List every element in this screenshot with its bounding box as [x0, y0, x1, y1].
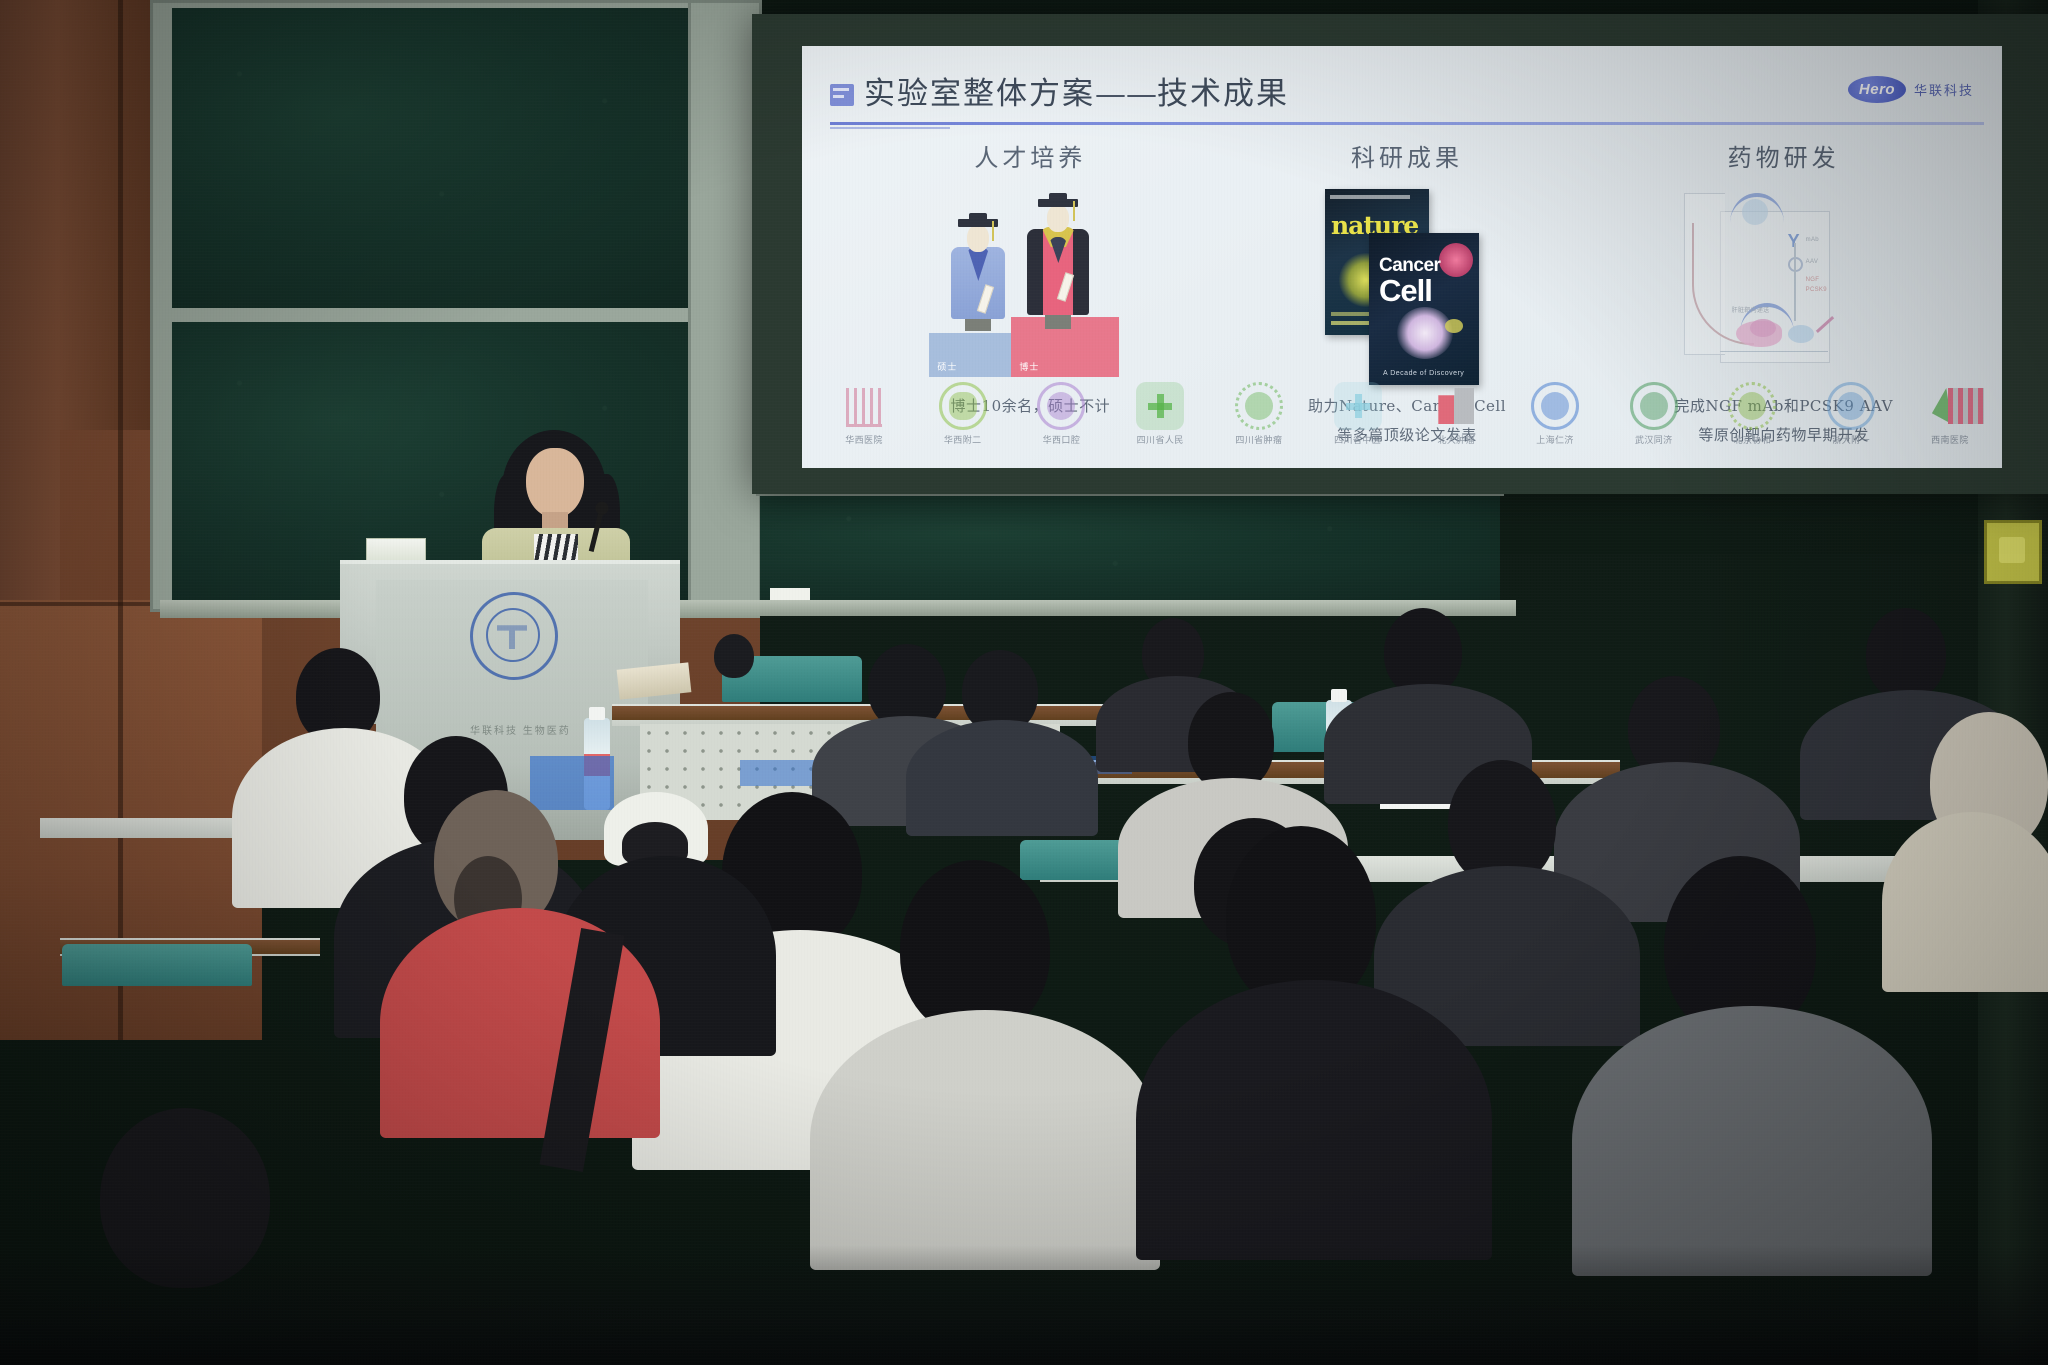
journal-cc-tagline: A Decade of Discovery — [1383, 370, 1464, 377]
partner-logo-label: 武汉同济 — [1618, 433, 1690, 446]
journal-cc-line2: Cell — [1379, 273, 1432, 309]
partner-logo-mark-icon — [1432, 382, 1480, 430]
partner-logo-label: 华西医院 — [828, 433, 900, 446]
yellow-notice-sign-icon — [1984, 520, 2042, 584]
eraser — [770, 588, 810, 600]
partner-logo-mark-icon — [1630, 382, 1678, 430]
slide-bullet-icon — [830, 84, 854, 106]
column-talent: 人才培养 硕士 博士 — [842, 138, 1219, 388]
partner-logo: 四川省中医 — [1322, 382, 1394, 458]
partner-logo-mark-icon — [939, 382, 987, 430]
diagram-label-aav: AAV — [1806, 259, 1818, 265]
partner-logo-label: 华西附二 — [927, 433, 999, 446]
partner-logo-mark-icon — [1926, 382, 1974, 430]
partner-logo: 四川省人民 — [1124, 382, 1196, 458]
panel-seam — [118, 0, 123, 1040]
partner-logo: 北京协和 — [1716, 382, 1788, 458]
journal-cover-cancer-cell: Cancer Cell A Decade of Discovery — [1369, 233, 1479, 385]
presenter-speaker — [476, 430, 636, 580]
column-heading: 药物研发 — [1595, 138, 1972, 173]
chair-back — [62, 944, 252, 986]
slide-title-main: 实验室整体方案 — [864, 76, 1095, 112]
audience-head — [1384, 608, 1462, 696]
partner-logo-label: 北京协和 — [1716, 433, 1788, 446]
presentation-slide: 实验室整体方案——技术成果 Hero 华联科技 人才培养 硕士 — [802, 46, 2002, 468]
graduate-doctor-figure — [1019, 193, 1099, 331]
drug-pathway-diagram: Y mAb AAV NGF PCSK9 肝脏靶向递送 — [1684, 187, 1884, 377]
pedestal-doctor-label: 博士 — [1019, 360, 1039, 373]
diagram-label-delivery: 肝脏靶向递送 — [1732, 305, 1770, 314]
audience-head — [714, 634, 754, 678]
column-artwork: Y mAb AAV NGF PCSK9 肝脏靶向递送 — [1595, 187, 1972, 377]
brand-oval-icon: Hero — [1848, 76, 1906, 103]
chalkboard-panel-upper — [172, 8, 734, 308]
title-underline — [830, 122, 1984, 125]
brand-chinese-name: 华联科技 — [1914, 80, 1974, 99]
graduates-illustration: 硕士 博士 — [925, 187, 1135, 377]
column-heading: 人才培养 — [842, 138, 1219, 173]
university-crest-icon — [470, 592, 558, 680]
column-artwork: 硕士 博士 — [842, 187, 1219, 377]
column-artwork: nature Cancer Cell A Decade of Discovery — [1219, 187, 1596, 377]
diagram-label-mab: mAb — [1806, 237, 1819, 243]
column-research: 科研成果 nature — [1219, 138, 1596, 388]
presenter-face — [526, 448, 584, 518]
audience-head — [1866, 608, 1946, 700]
diagram-label-pcsk9: PCSK9 — [1806, 287, 1827, 293]
diagram-label-ngf: NGF — [1806, 277, 1820, 283]
chalkboard-panel-lower — [172, 322, 734, 600]
audience-shoulders — [1136, 980, 1492, 1260]
lecture-hall-photo: 实验室整体方案——技术成果 Hero 华联科技 人才培养 硕士 — [0, 0, 2048, 1365]
brand-logo: Hero 华联科技 — [1848, 76, 1974, 103]
desk-row-3-edge — [612, 706, 1112, 720]
chalkboard-frame-divider — [688, 0, 762, 612]
audience-shoulders — [1882, 812, 2048, 992]
graduate-master-figure — [943, 213, 1015, 331]
slide-title: 实验室整体方案——技术成果 — [864, 68, 1289, 113]
partner-logo-label: 四川省中医 — [1322, 433, 1394, 446]
partner-logo: 北大肿瘤 — [1420, 382, 1492, 458]
partner-logo-mark-icon — [1334, 382, 1382, 430]
audience-shoulders — [906, 720, 1098, 836]
partner-logo: 华西口腔 — [1025, 382, 1097, 458]
partner-logo: 上海仁济 — [1519, 382, 1591, 458]
partner-logo: 华西附二 — [927, 382, 999, 458]
audience-shoulders — [810, 1010, 1160, 1270]
lectern-strip-text: 华联科技 生物医药 — [470, 722, 590, 737]
partner-logo-mark-icon — [1728, 382, 1776, 430]
partner-logo-label: 北大肿瘤 — [1420, 433, 1492, 446]
partner-logo: 浙大附一 — [1815, 382, 1887, 458]
partner-logo-mark-icon — [1037, 382, 1085, 430]
pedestal-master-label: 硕士 — [937, 360, 957, 373]
partner-logo-mark-icon — [840, 382, 888, 430]
slide-title-dash: —— — [1095, 76, 1157, 112]
projection-screen: 实验室整体方案——技术成果 Hero 华联科技 人才培养 硕士 — [752, 14, 2048, 494]
slide-title-sub: 技术成果 — [1157, 76, 1289, 112]
audience-shoulders — [1572, 1006, 1932, 1276]
partner-logo-label: 华西口腔 — [1025, 433, 1097, 446]
audience-head — [1188, 692, 1274, 792]
chalkboard-panel-right — [760, 494, 1500, 606]
partner-logo-label: 浙大附一 — [1815, 433, 1887, 446]
partner-logo-mark-icon — [1827, 382, 1875, 430]
partner-logo-label: 四川省肿瘤 — [1223, 433, 1295, 446]
column-heading: 科研成果 — [1219, 138, 1596, 173]
partner-logo-label: 西南医院 — [1914, 433, 1986, 446]
partner-logo-mark-icon — [1531, 382, 1579, 430]
column-drug-development: 药物研发 Y mAb AAV NGF — [1595, 138, 1972, 388]
partner-logo-mark-icon — [1235, 382, 1283, 430]
partner-logo-strip: 华西医院华西附二华西口腔四川省人民四川省肿瘤四川省中医北大肿瘤上海仁济武汉同济北… — [828, 382, 1986, 458]
partner-logo: 华西医院 — [828, 382, 900, 458]
foreground-shadow — [0, 1245, 2048, 1365]
journal-covers-illustration: nature Cancer Cell A Decade of Discovery — [1317, 187, 1497, 377]
slide-columns: 人才培养 硕士 博士 — [842, 138, 1972, 388]
partner-logo-label: 上海仁济 — [1519, 433, 1591, 446]
partner-logo: 武汉同济 — [1618, 382, 1690, 458]
partner-logo: 四川省肿瘤 — [1223, 382, 1295, 458]
audience-white-cap — [604, 792, 708, 866]
blue-folder — [530, 756, 614, 810]
partner-logo: 西南医院 — [1914, 382, 1986, 458]
partner-logo-label: 四川省人民 — [1124, 433, 1196, 446]
slide-header: 实验室整体方案——技术成果 Hero 华联科技 — [830, 64, 1984, 118]
title-underline-accent — [830, 127, 950, 129]
partner-logo-mark-icon — [1136, 382, 1184, 430]
